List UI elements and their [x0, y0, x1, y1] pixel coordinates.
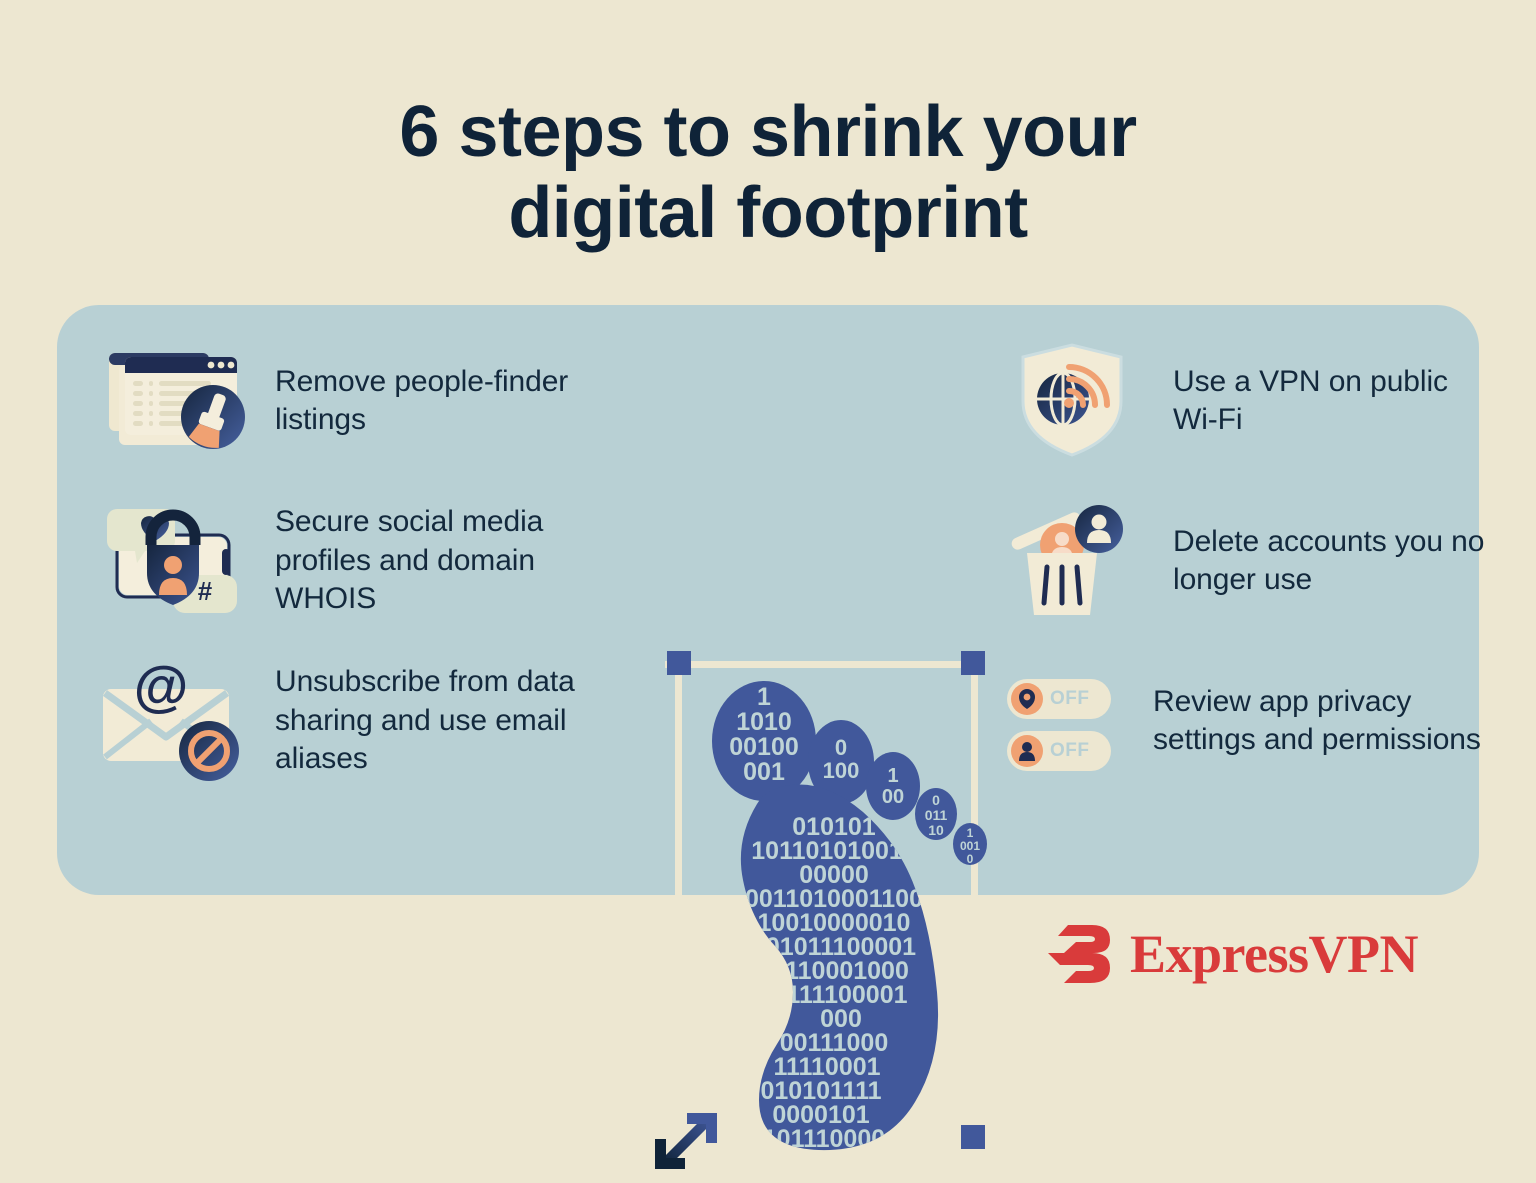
svg-text:101101: 101101	[776, 1149, 858, 1177]
svg-text:1: 1	[887, 765, 898, 787]
svg-text:100: 100	[823, 758, 860, 783]
svg-text:10: 10	[928, 822, 944, 838]
page-title-line-1: 6 steps to shrink your	[0, 92, 1536, 173]
toggle-state-label: OFF	[1050, 688, 1090, 710]
steps-panel: Remove people-finder listings	[57, 305, 1479, 895]
svg-text:001: 001	[960, 839, 980, 853]
step-label: Delete accounts you no longer use	[1173, 523, 1487, 600]
step-label: Secure social media profiles and domain …	[275, 503, 583, 618]
svg-text:00100: 00100	[729, 733, 799, 761]
svg-text:1010: 1010	[736, 708, 792, 736]
digital-footprint-graphic: 11010 00100001 0100 100 001110 10010 010…	[649, 639, 1019, 1179]
svg-text:00: 00	[882, 786, 904, 808]
svg-text:0: 0	[967, 852, 974, 866]
step-remove-people-finder-listings: Remove people-finder listings	[103, 343, 583, 459]
step-label: Use a VPN on public Wi-Fi	[1173, 363, 1487, 440]
step-unsubscribe-data-sharing: @ Unsubscribe from data sharing and use …	[103, 663, 583, 779]
phone-padlock-shield-icon: #	[103, 503, 253, 619]
envelope-at-blocked-icon: @	[103, 663, 253, 779]
browser-windows-broom-icon	[103, 343, 253, 459]
svg-text:@: @	[134, 654, 189, 717]
left-steps-column: Remove people-finder listings	[103, 343, 583, 823]
svg-text:1: 1	[967, 826, 974, 840]
expressvpn-wordmark: ExpressVPN	[1130, 923, 1418, 985]
svg-text:011: 011	[925, 807, 948, 823]
step-delete-unused-accounts: Delete accounts you no longer use	[1007, 503, 1487, 619]
step-review-app-privacy: OFF OFF Review app privacy settings and …	[1007, 663, 1487, 779]
svg-text:0: 0	[932, 792, 940, 808]
privacy-toggles-icon: OFF OFF	[1007, 671, 1127, 771]
toggle-state-label: OFF	[1050, 740, 1090, 762]
step-use-vpn-public-wifi: Use a VPN on public Wi-Fi	[1007, 343, 1487, 459]
right-steps-column: Use a VPN on public Wi-Fi	[1007, 343, 1487, 823]
trash-account-icon	[1007, 503, 1147, 619]
step-label: Remove people-finder listings	[275, 363, 583, 440]
expressvpn-e-mark-icon	[1046, 923, 1112, 985]
resize-arrow-icon[interactable]	[643, 1103, 733, 1183]
svg-text:1: 1	[757, 683, 771, 711]
expressvpn-logo: ExpressVPN	[1046, 923, 1418, 985]
svg-text:#: #	[198, 576, 213, 606]
toggle-profile-permission[interactable]: OFF	[1007, 731, 1111, 771]
step-label: Review app privacy settings and permissi…	[1153, 683, 1487, 760]
step-label: Unsubscribe from data sharing and use em…	[275, 663, 583, 778]
footprint-shape: 11010 00100001 0100 100 001110 10010 010…	[649, 639, 1019, 1179]
page-title-line-2: digital footprint	[0, 173, 1536, 254]
step-secure-social-media: # Secure social media profiles and domai…	[103, 503, 583, 619]
svg-text:0: 0	[835, 735, 847, 760]
shield-globe-wifi-icon	[1007, 343, 1147, 459]
page-title: 6 steps to shrink your digital footprint	[0, 92, 1536, 253]
svg-text:001: 001	[743, 758, 785, 786]
toggle-location-permission[interactable]: OFF	[1007, 679, 1111, 719]
